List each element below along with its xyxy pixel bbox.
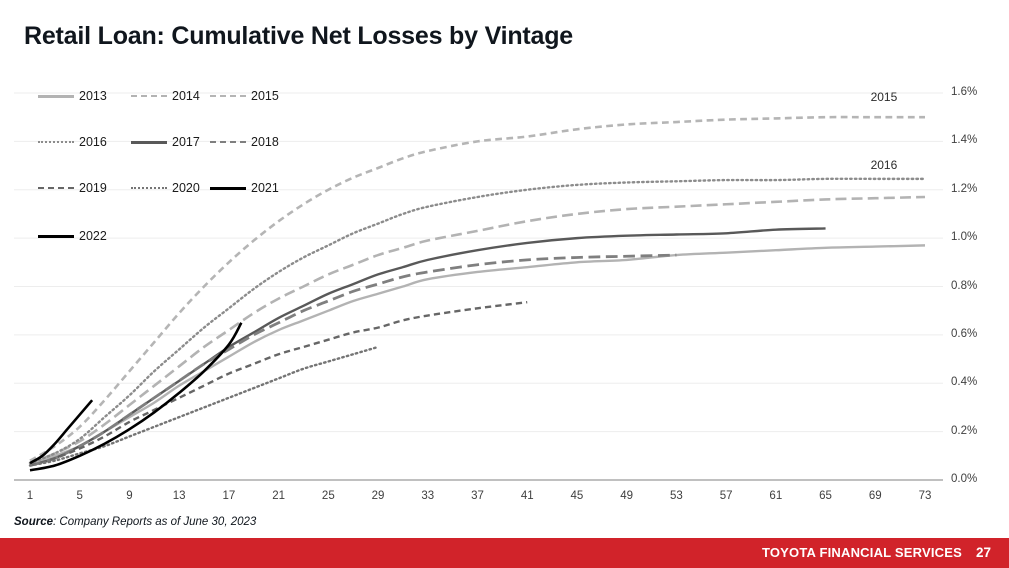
legend-swatch-2013 — [38, 95, 74, 98]
footer-page-number: 27 — [976, 538, 991, 568]
legend-swatch-2018 — [210, 141, 246, 143]
legend-item-2016[interactable]: 2016 — [38, 135, 107, 149]
legend-swatch-2022 — [38, 235, 74, 238]
y-axis-tick-label: 0.8% — [951, 280, 977, 292]
y-axis-tick-label: 1.4% — [951, 134, 977, 146]
y-axis-tick-label: 1.0% — [951, 231, 977, 243]
legend-swatch-2020 — [131, 187, 167, 189]
x-axis-tick-label: 69 — [869, 490, 882, 502]
legend-swatch-2017 — [131, 141, 167, 144]
slide-canvas: Retail Loan: Cumulative Net Losses by Vi… — [0, 0, 1009, 568]
source-label: Source — [14, 516, 53, 528]
y-axis-tick-label: 1.2% — [951, 183, 977, 195]
x-axis-tick-label: 73 — [919, 490, 932, 502]
legend-swatch-2016 — [38, 141, 74, 143]
legend-item-2020[interactable]: 2020 — [131, 181, 200, 195]
legend-swatch-2019 — [38, 187, 74, 189]
x-axis-tick-label: 9 — [126, 490, 132, 502]
legend-label: 2021 — [251, 181, 279, 195]
legend-swatch-2015 — [210, 95, 246, 97]
legend-swatch-2021 — [210, 187, 246, 190]
x-axis-tick-label: 57 — [720, 490, 733, 502]
legend-item-2013[interactable]: 2013 — [38, 89, 107, 103]
footer-brand: TOYOTA FINANCIAL SERVICES — [762, 538, 962, 568]
x-axis-tick-label: 45 — [571, 490, 584, 502]
series-annotation-2016: 2016 — [871, 158, 898, 172]
source-note: Source: Company Reports as of June 30, 2… — [14, 516, 256, 528]
y-axis-tick-label: 0.6% — [951, 328, 977, 340]
x-axis-tick-label: 37 — [471, 490, 484, 502]
x-axis-tick-label: 29 — [372, 490, 385, 502]
legend-label: 2016 — [79, 135, 107, 149]
series-line-2021 — [30, 323, 241, 471]
y-axis-tick-label: 0.0% — [951, 473, 977, 485]
legend-item-2019[interactable]: 2019 — [38, 181, 107, 195]
legend-label: 2022 — [79, 229, 107, 243]
x-axis-tick-label: 1 — [27, 490, 33, 502]
y-axis-tick-label: 0.2% — [951, 425, 977, 437]
series-annotation-2015: 2015 — [871, 90, 898, 104]
legend-label: 2015 — [251, 89, 279, 103]
x-axis-tick-label: 13 — [173, 490, 186, 502]
legend-item-2017[interactable]: 2017 — [131, 135, 200, 149]
legend-label: 2018 — [251, 135, 279, 149]
legend-item-2022[interactable]: 2022 — [38, 229, 107, 243]
x-axis-tick-label: 53 — [670, 490, 683, 502]
legend-label: 2019 — [79, 181, 107, 195]
x-axis-tick-label: 61 — [769, 490, 782, 502]
source-text: : Company Reports as of June 30, 2023 — [53, 516, 256, 528]
legend-swatch-2014 — [131, 95, 167, 97]
series-line-2019 — [30, 302, 527, 465]
x-axis-tick-label: 17 — [222, 490, 235, 502]
x-axis-tick-label: 21 — [272, 490, 285, 502]
legend-item-2018[interactable]: 2018 — [210, 135, 279, 149]
legend-item-2015[interactable]: 2015 — [210, 89, 279, 103]
y-axis-tick-label: 1.6% — [951, 86, 977, 98]
legend-item-2014[interactable]: 2014 — [131, 89, 200, 103]
legend-label: 2017 — [172, 135, 200, 149]
x-axis-tick-label: 65 — [819, 490, 832, 502]
page-title: Retail Loan: Cumulative Net Losses by Vi… — [24, 22, 573, 51]
footer-bar: TOYOTA FINANCIAL SERVICES 27 — [0, 538, 1009, 568]
legend-label: 2020 — [172, 181, 200, 195]
chart-legend: 2013201420152016201720182019202020212022 — [38, 89, 298, 239]
chart-container: 2013201420152016201720182019202020212022… — [0, 78, 1009, 508]
legend-label: 2013 — [79, 89, 107, 103]
legend-label: 2014 — [172, 89, 200, 103]
x-axis-tick-label: 5 — [77, 490, 83, 502]
x-axis-tick-label: 33 — [421, 490, 434, 502]
y-axis-tick-label: 0.4% — [951, 376, 977, 388]
series-line-2013 — [30, 245, 925, 463]
x-axis-tick-label: 49 — [620, 490, 633, 502]
x-axis-tick-label: 41 — [521, 490, 534, 502]
legend-item-2021[interactable]: 2021 — [210, 181, 279, 195]
x-axis-tick-label: 25 — [322, 490, 335, 502]
